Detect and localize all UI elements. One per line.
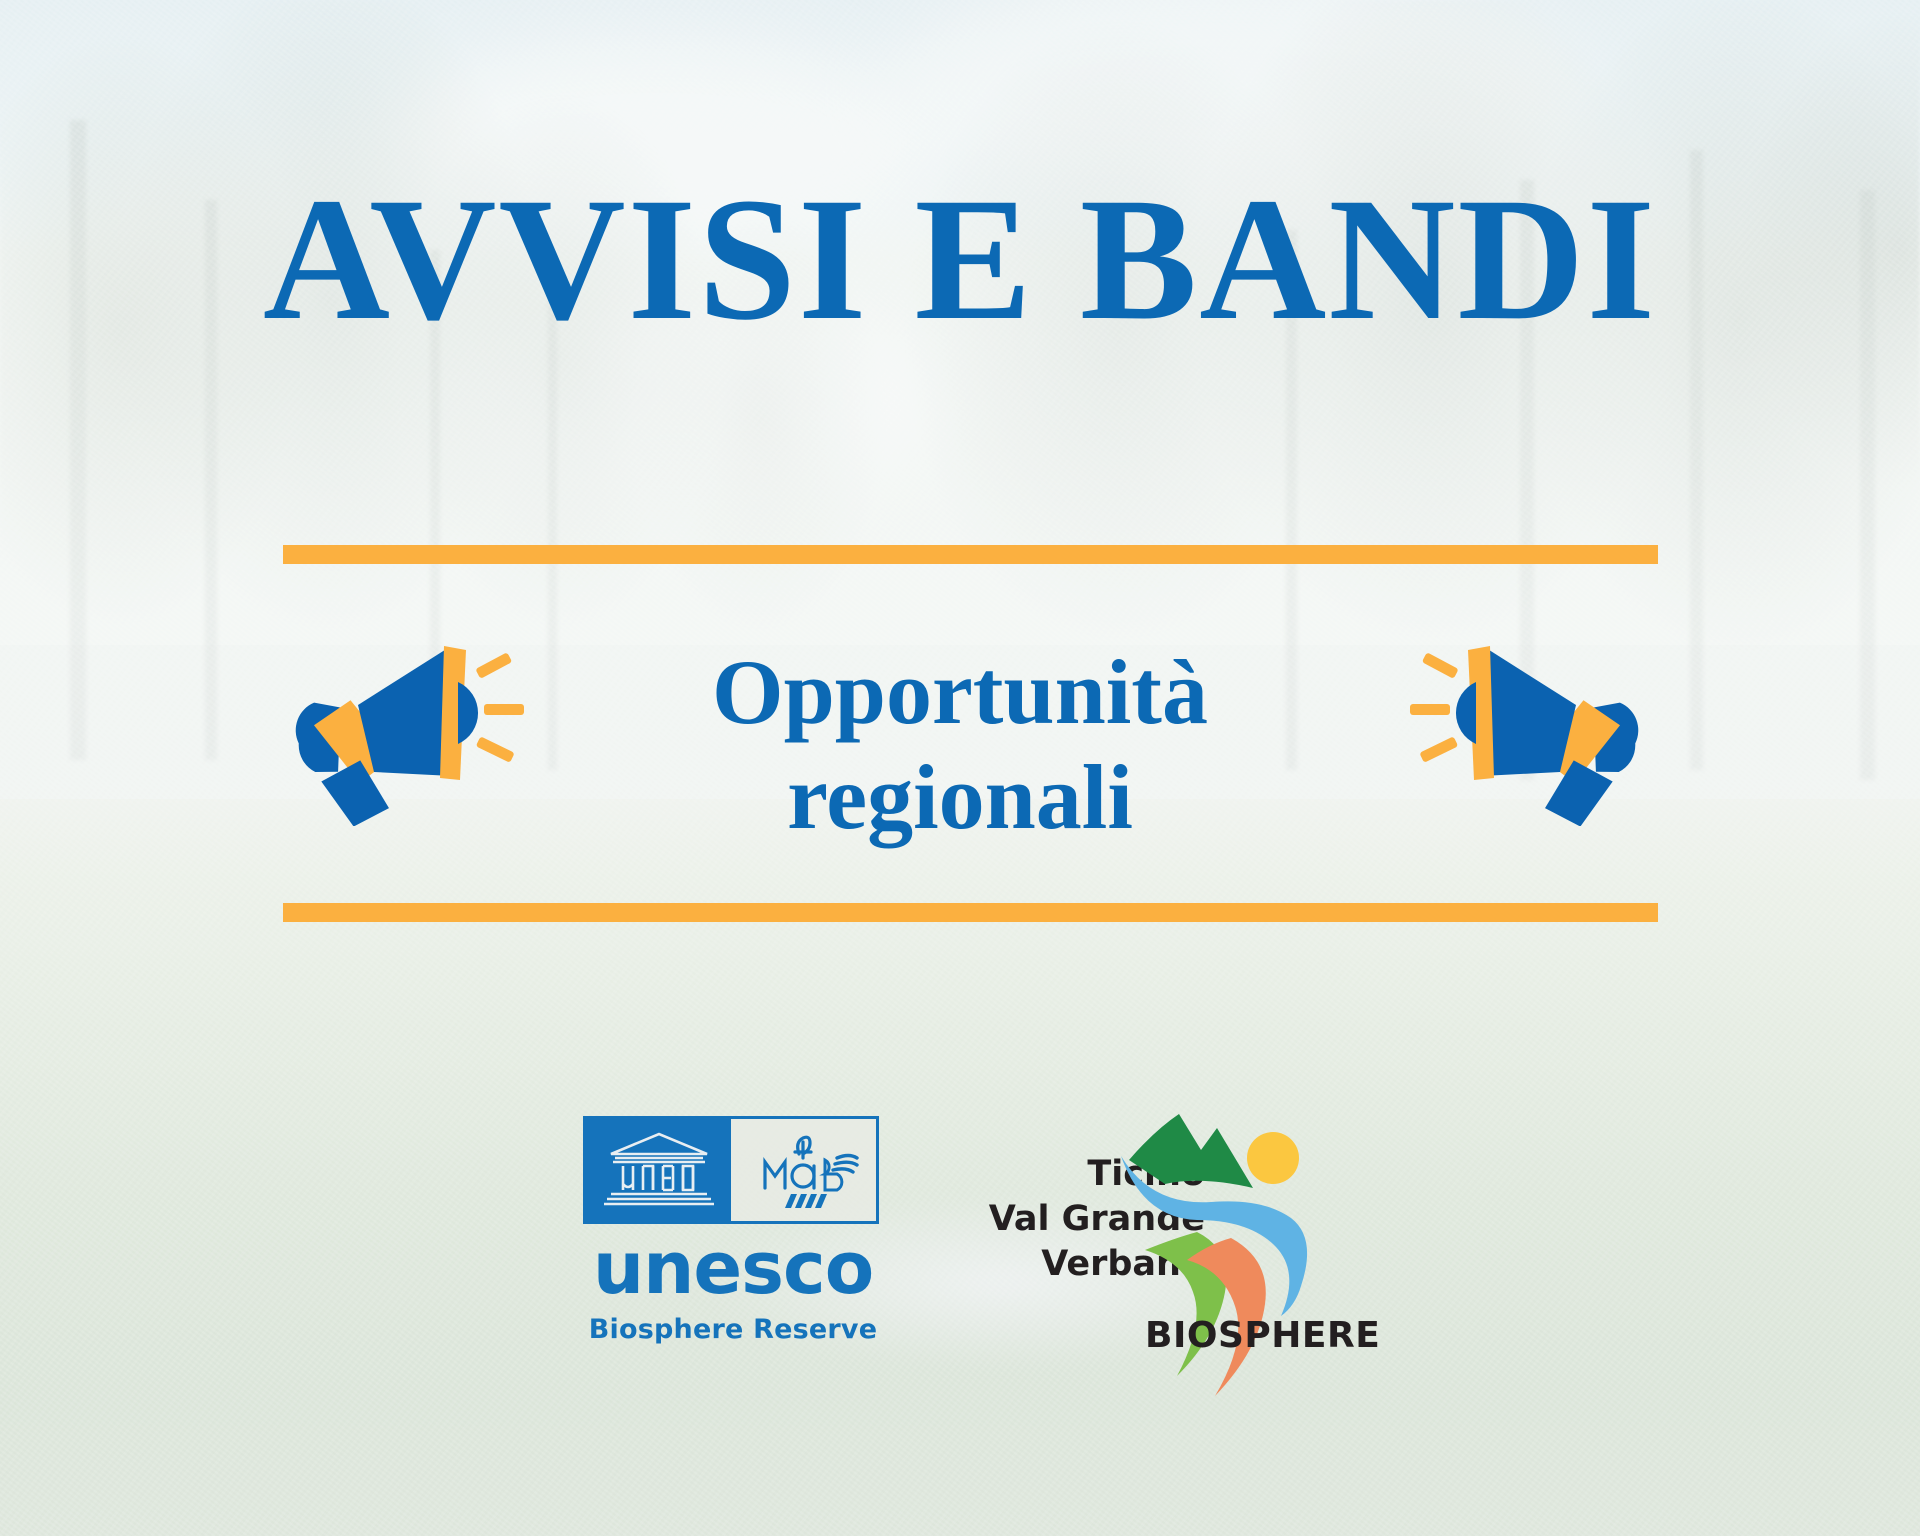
subtitle-line-1: Opportunità <box>0 640 1920 745</box>
subtitle-block: Opportunità regionali <box>0 640 1920 850</box>
ticino-biosphere-logo: Ticino Val Grande Verbano BIOSPHE <box>945 1110 1365 1400</box>
divider-bottom <box>283 903 1658 922</box>
mab-icon <box>731 1119 876 1221</box>
page-title: AVVISI E BANDI <box>0 172 1920 348</box>
divider-top <box>283 545 1658 564</box>
poster-content: AVVISI E BANDI <box>0 0 1920 1536</box>
ticino-wordmark: BIOSPHERE <box>1145 1315 1380 1356</box>
unesco-wordmark: unesco <box>583 1232 883 1304</box>
unesco-emblem-box <box>583 1116 879 1224</box>
subtitle-line-2: regionali <box>0 745 1920 850</box>
unesco-logo: unesco Biosphere Reserve <box>583 1116 883 1345</box>
logo-row: unesco Biosphere Reserve Ticino Val Gran… <box>0 1110 1920 1410</box>
biosphere-swoosh-icon <box>1105 1110 1365 1400</box>
unesco-temple-icon <box>586 1119 731 1221</box>
poster-canvas: AVVISI E BANDI <box>0 0 1920 1536</box>
unesco-tagline: Biosphere Reserve <box>583 1314 883 1345</box>
